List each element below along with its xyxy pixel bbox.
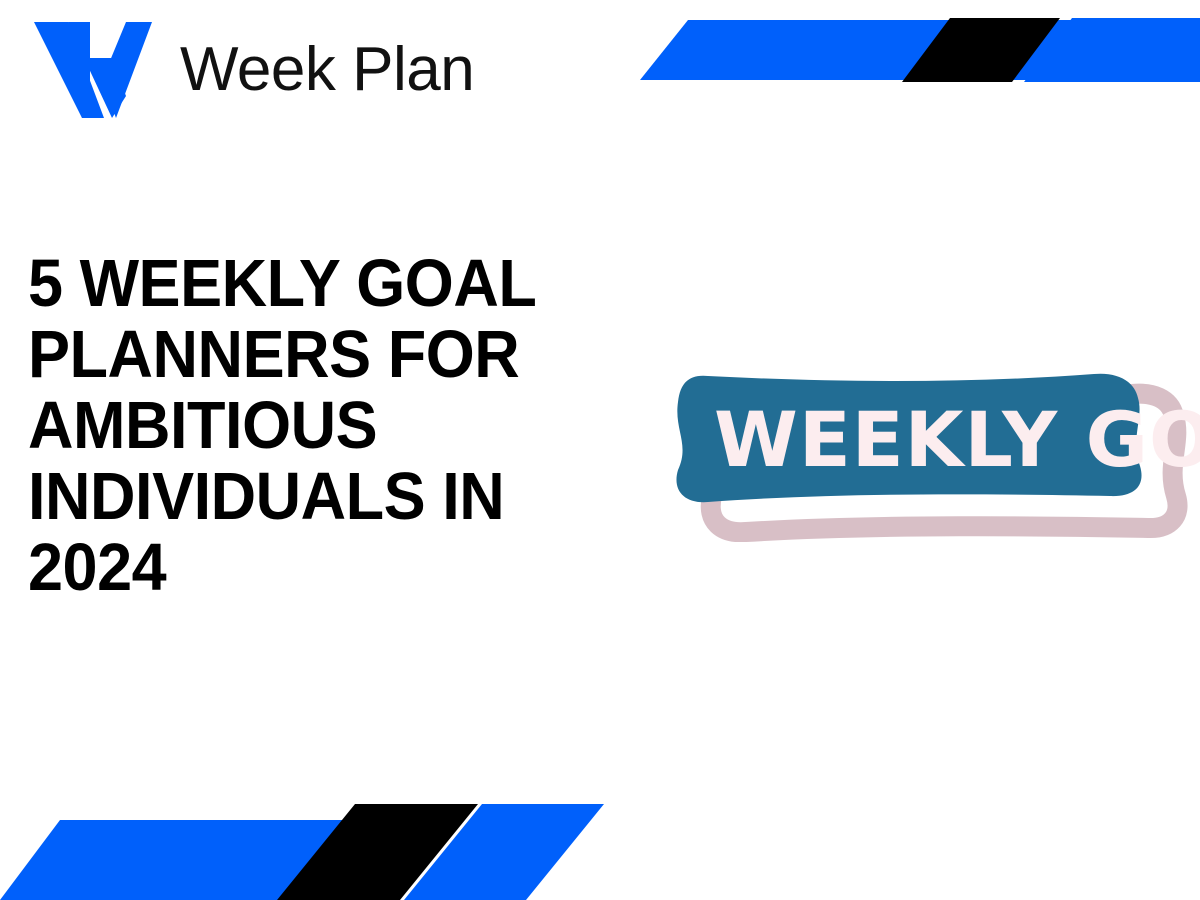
- badge-label: WEEKLY GOALS: [714, 395, 1200, 484]
- weekly-goals-badge-art: WEEKLY GOALS: [664, 362, 1200, 542]
- poster-canvas: Week Plan 5 Weekly Goal Planners For Amb…: [0, 0, 1200, 900]
- page-title: 5 Weekly Goal Planners For Ambitious Ind…: [28, 248, 630, 603]
- brand-lockup: Week Plan: [28, 18, 474, 122]
- week-plan-w-logo-icon: [28, 18, 156, 122]
- weekly-goals-badge: WEEKLY GOALS: [664, 362, 1200, 542]
- top-right-stripe-banner: [640, 0, 1200, 110]
- bottom-left-stripe-banner: [0, 790, 640, 900]
- brand-wordmark: Week Plan: [180, 39, 474, 101]
